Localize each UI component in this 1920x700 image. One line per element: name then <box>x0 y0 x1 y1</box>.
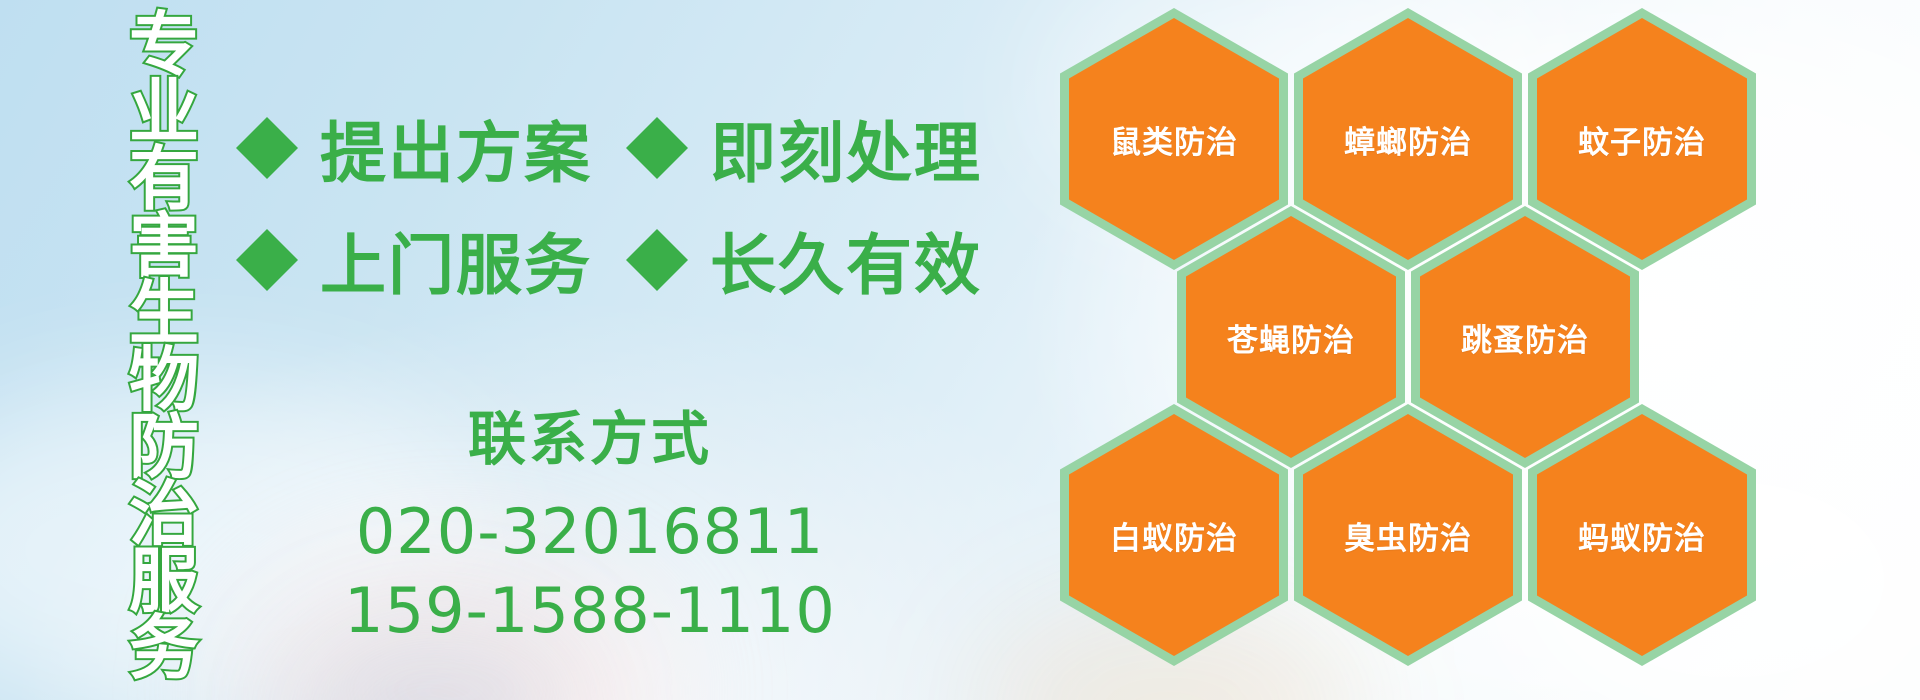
vertical-headline-char: 治 <box>129 481 199 548</box>
vertical-headline-char: 服 <box>129 548 199 615</box>
service-hexagon-label: 苍蝇防治 <box>1227 315 1355 360</box>
feature-label: 长久有效 <box>710 212 982 308</box>
vertical-headline-char: 防 <box>129 414 199 481</box>
diamond-bullet-icon <box>236 198 298 260</box>
diamond-bullet-icon <box>626 86 688 148</box>
vertical-headline-char: 有 <box>129 146 199 213</box>
contact-block: 联系方式 020-32016811 159-1588-1110 <box>330 392 850 651</box>
diamond-bullet-icon <box>626 198 688 260</box>
feature-item-door-to-door-service: 上门服务 <box>236 212 592 308</box>
service-hexagon-label: 跳蚤防治 <box>1461 315 1589 360</box>
service-hexagon-label: 蟑螂防治 <box>1344 117 1472 162</box>
vertical-headline-char: 业 <box>129 79 199 146</box>
vertical-headline: 专 业 有 害 生 物 防 治 服 务 <box>108 12 220 688</box>
contact-phone-mobile[interactable]: 159-1588-1110 <box>330 571 850 650</box>
feature-item-propose-plan: 提出方案 <box>236 100 592 196</box>
feature-row: 提出方案 即刻处理 <box>236 92 982 204</box>
service-hexagon-label: 蚂蚁防治 <box>1578 513 1706 558</box>
feature-list: 提出方案 即刻处理 上门服务 长久有效 <box>236 92 982 316</box>
service-hexagon-label: 臭虫防治 <box>1344 513 1472 558</box>
vertical-headline-char: 生 <box>129 280 199 347</box>
feature-label: 提出方案 <box>320 100 592 196</box>
vertical-headline-char: 害 <box>129 213 199 280</box>
feature-label: 即刻处理 <box>710 100 982 196</box>
contact-heading: 联系方式 <box>330 392 850 476</box>
contact-phone-landline[interactable]: 020-32016811 <box>330 492 850 571</box>
pest-control-service-banner: 专 业 有 害 生 物 防 治 服 务 提出方案 即刻处理 上门服务 <box>0 0 1920 700</box>
feature-item-immediate-handling: 即刻处理 <box>626 100 982 196</box>
service-hexagon-label: 鼠类防治 <box>1110 117 1238 162</box>
service-hexagon-label: 白蚁防治 <box>1110 513 1238 558</box>
service-hexagon-label: 蚊子防治 <box>1578 117 1706 162</box>
feature-label: 上门服务 <box>320 212 592 308</box>
vertical-headline-char: 务 <box>129 615 199 682</box>
diamond-bullet-icon <box>236 86 298 148</box>
feature-row: 上门服务 长久有效 <box>236 204 982 316</box>
vertical-headline-char: 专 <box>129 12 199 79</box>
vertical-headline-char: 物 <box>129 347 199 414</box>
service-hexagon-grid: 鼠类防治 蟑螂防治 蚊子防治 苍蝇防治 跳蚤防治 白蚁防治 臭虫防治 <box>1060 0 1800 700</box>
feature-item-long-lasting-effect: 长久有效 <box>626 212 982 308</box>
